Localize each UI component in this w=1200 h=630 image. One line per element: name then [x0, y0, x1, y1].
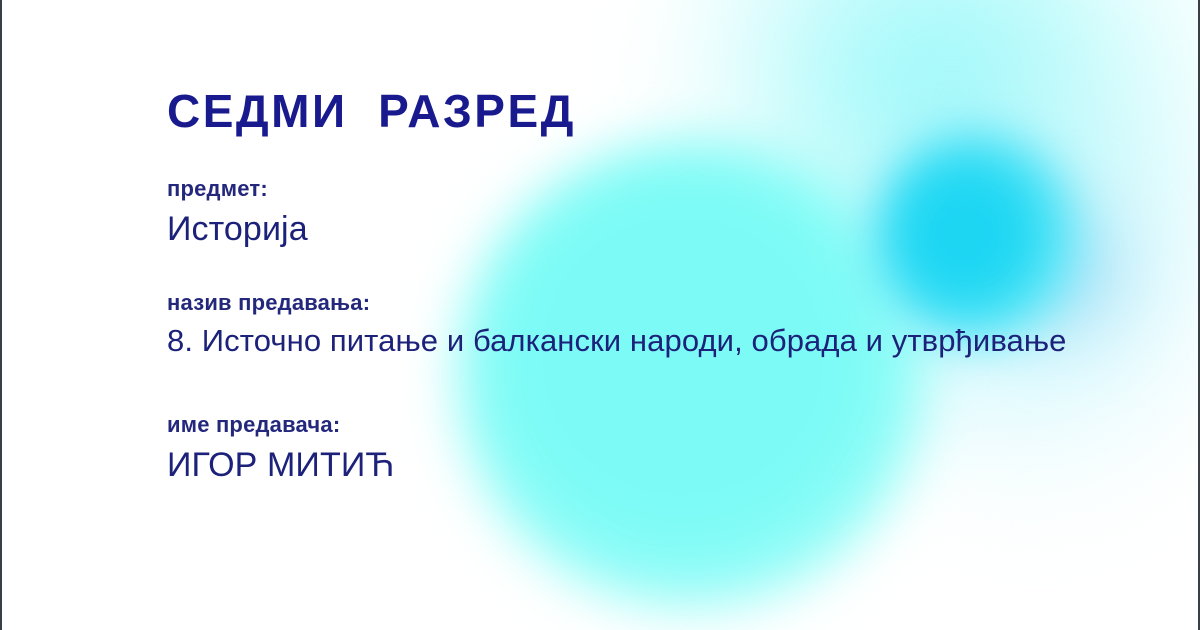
field-lecturer: име предавача: ИГОР МИТИЋ: [167, 412, 395, 487]
grade-title: СЕДМИ РАЗРЕД: [167, 88, 576, 134]
lesson-title-slide: СЕДМИ РАЗРЕД предмет: Историја назив пре…: [0, 0, 1200, 630]
field-subject-label: предмет:: [167, 176, 308, 202]
field-lecturer-value: ИГОР МИТИЋ: [167, 444, 395, 487]
slide-content: СЕДМИ РАЗРЕД предмет: Историја назив пре…: [167, 0, 1167, 630]
field-lecture-title-value: 8. Источно питање и балкански народи, об…: [167, 322, 1067, 361]
field-subject-value: Историја: [167, 208, 308, 251]
field-lecture-title: назив предавања: 8. Источно питање и бал…: [167, 290, 1067, 361]
field-lecturer-label: име предавача:: [167, 412, 395, 438]
field-lecture-title-label: назив предавања:: [167, 290, 1067, 316]
field-subject: предмет: Историја: [167, 176, 308, 251]
